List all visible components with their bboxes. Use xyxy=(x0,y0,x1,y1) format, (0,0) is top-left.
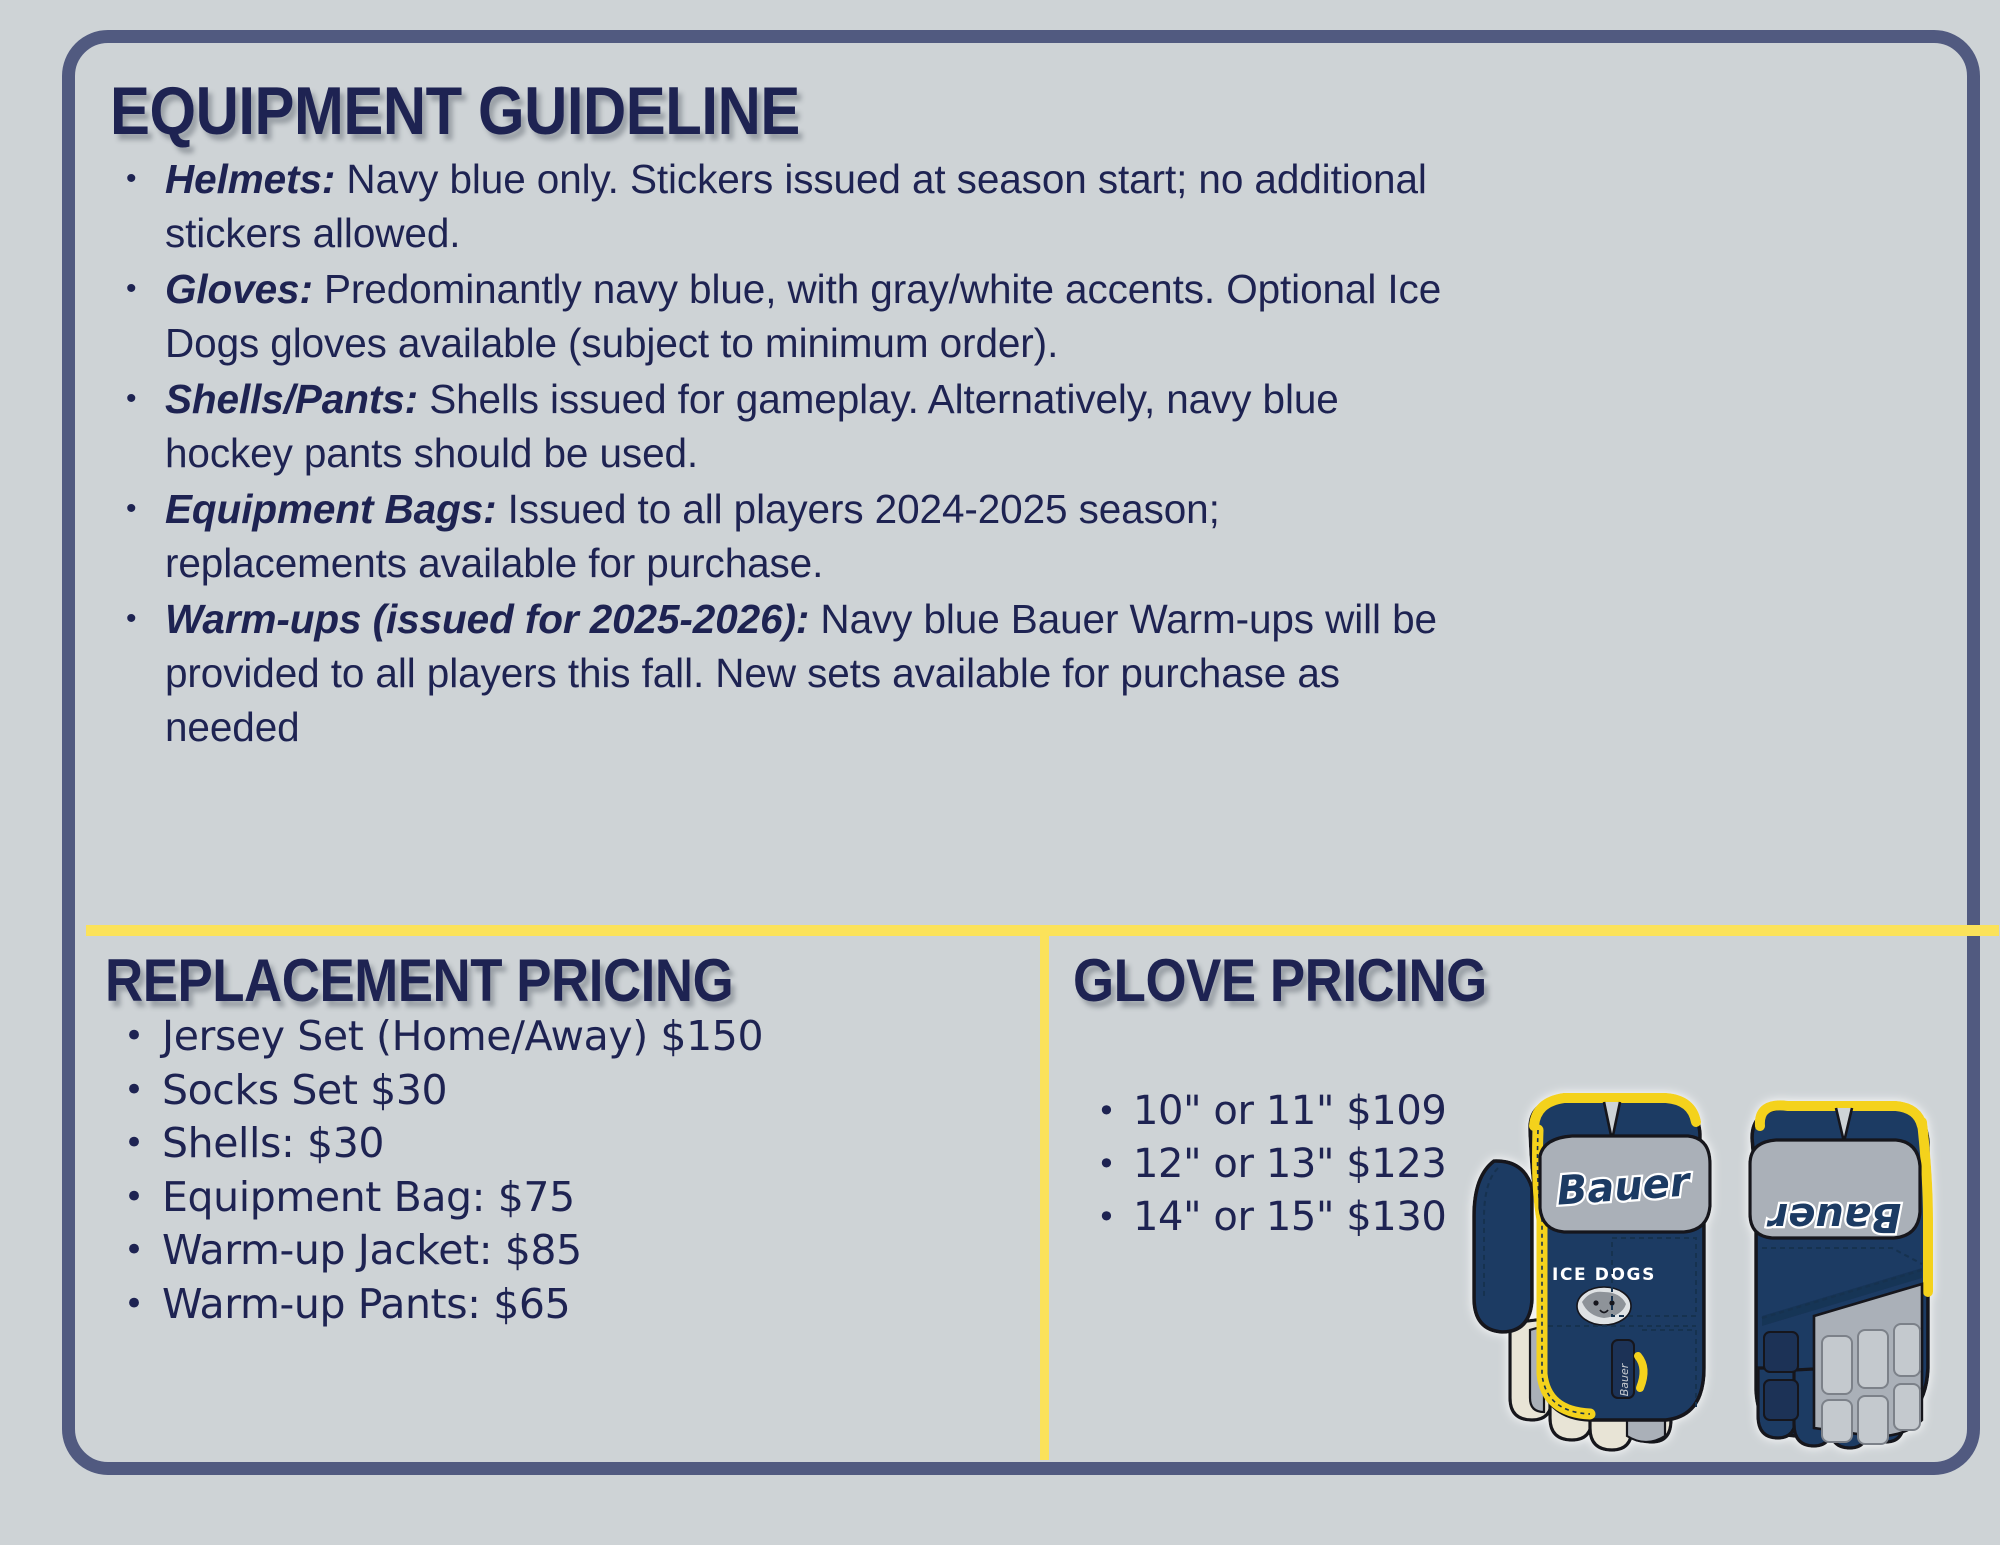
replacement-pricing-list: Jersey Set (Home/Away) $150Socks Set $30… xyxy=(112,1010,812,1331)
guideline-item: Helmets: Navy blue only. Stickers issued… xyxy=(112,152,1472,260)
guideline-item-lead: Gloves: xyxy=(165,266,313,312)
page-title: EQUIPMENT GUIDELINE xyxy=(110,74,800,148)
replacement-pricing-item: Jersey Set (Home/Away) $150 xyxy=(112,1010,812,1064)
vertical-divider xyxy=(1040,936,1049,1460)
replacement-pricing-item: Shells: $30 xyxy=(112,1117,812,1171)
glove-pricing-item: 10" or 11" $109 xyxy=(1085,1085,1505,1138)
svg-text:ICE DOGS: ICE DOGS xyxy=(1552,1265,1656,1285)
glove-left: Bauer ICE DOGS Bauer xyxy=(1474,1098,1710,1450)
hockey-gloves-image: Bauer ICE DOGS Bauer xyxy=(1452,1068,1980,1488)
svg-text:Bauer: Bauer xyxy=(1555,1159,1693,1214)
guideline-item-lead: Shells/Pants: xyxy=(165,376,418,422)
glove-pricing-item: 14" or 15" $130 xyxy=(1085,1191,1505,1244)
replacement-pricing-item: Warm-up Jacket: $85 xyxy=(112,1224,812,1278)
guideline-item: Warm-ups (issued for 2025-2026): Navy bl… xyxy=(112,592,1472,754)
replacement-pricing-item: Equipment Bag: $75 xyxy=(112,1171,812,1225)
svg-text:Bauer: Bauer xyxy=(1766,1194,1901,1240)
replacement-pricing-item: Socks Set $30 xyxy=(112,1064,812,1118)
guideline-item: Gloves: Predominantly navy blue, with gr… xyxy=(112,262,1472,370)
glove-pricing-item: 12" or 13" $123 xyxy=(1085,1138,1505,1191)
glove-pricing-list: 10" or 11" $10912" or 13" $12314" or 15"… xyxy=(1085,1085,1505,1244)
replacement-pricing-item: Warm-up Pants: $65 xyxy=(112,1278,812,1332)
svg-text:Bauer: Bauer xyxy=(1618,1362,1631,1396)
guideline-item-text: Predominantly navy blue, with gray/white… xyxy=(165,266,1441,366)
guideline-item: Shells/Pants: Shells issued for gameplay… xyxy=(112,372,1472,480)
glove-right: Bauer xyxy=(1750,1105,1928,1448)
guideline-item-lead: Warm-ups (issued for 2025-2026): xyxy=(165,596,809,642)
guideline-item-lead: Helmets: xyxy=(165,156,335,202)
replacement-pricing-title: REPLACEMENT PRICING xyxy=(105,948,733,1014)
guideline-list: Helmets: Navy blue only. Stickers issued… xyxy=(112,152,1472,756)
glove-pricing-title: GLOVE PRICING xyxy=(1073,948,1487,1014)
guideline-item-lead: Equipment Bags: xyxy=(165,486,497,532)
poster-root: EQUIPMENT GUIDELINE Helmets: Navy blue o… xyxy=(0,0,2000,1545)
guideline-item-text: Navy blue only. Stickers issued at seaso… xyxy=(165,156,1427,256)
guideline-item: Equipment Bags: Issued to all players 20… xyxy=(112,482,1472,590)
horizontal-divider xyxy=(86,925,1999,936)
